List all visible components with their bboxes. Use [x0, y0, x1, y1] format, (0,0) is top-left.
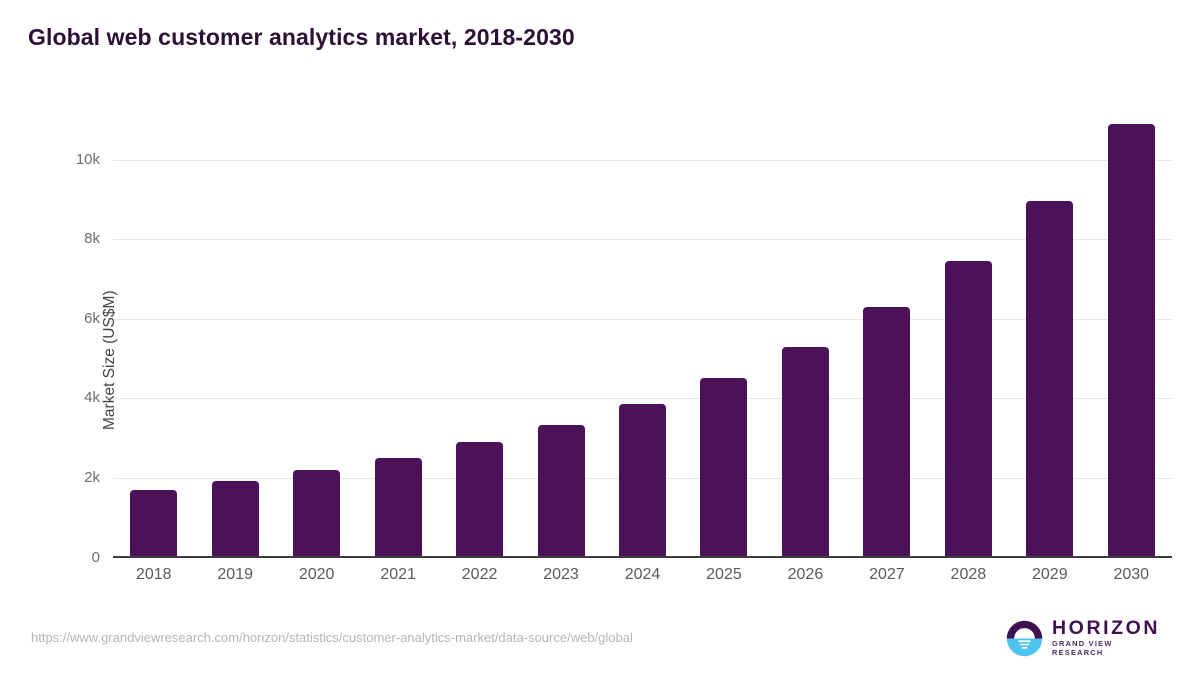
y-tick-label: 4k	[40, 389, 100, 406]
horizon-mark-icon	[1006, 620, 1043, 657]
gridline	[113, 239, 1172, 240]
bar[interactable]	[375, 458, 422, 555]
bar[interactable]	[700, 378, 747, 555]
logo-text: HORIZON GRAND VIEW RESEARCH	[1052, 618, 1166, 658]
bar[interactable]	[212, 481, 259, 556]
x-tick-label: 2019	[195, 566, 275, 584]
page-title: Global web customer analytics market, 20…	[28, 24, 575, 51]
y-tick-label: 2k	[40, 469, 100, 486]
bar[interactable]	[945, 261, 992, 555]
y-axis-title: Market Size (US$M)	[101, 290, 119, 430]
x-tick-label: 2030	[1091, 566, 1171, 584]
y-tick-label: 10k	[40, 151, 100, 168]
plot-frame: Market Size (US$M)	[113, 100, 1172, 558]
bar[interactable]	[1108, 124, 1155, 556]
horizon-logo[interactable]: HORIZON GRAND VIEW RESEARCH	[1006, 617, 1166, 659]
bar[interactable]	[1026, 201, 1073, 555]
bar[interactable]	[456, 442, 503, 555]
source-url[interactable]: https://www.grandviewresearch.com/horizo…	[31, 630, 633, 645]
gridline	[113, 160, 1172, 161]
chart-screenshot: Global web customer analytics market, 20…	[0, 0, 1200, 675]
y-tick-label: 6k	[40, 310, 100, 327]
x-tick-label: 2026	[765, 566, 845, 584]
bar[interactable]	[863, 307, 910, 556]
plot-area	[113, 100, 1172, 558]
x-tick-label: 2027	[847, 566, 927, 584]
x-tick-label: 2024	[603, 566, 683, 584]
x-tick-label: 2021	[358, 566, 438, 584]
x-tick-label: 2025	[684, 566, 764, 584]
x-tick-label: 2023	[521, 566, 601, 584]
bar[interactable]	[619, 404, 666, 555]
x-axis-line	[113, 556, 1172, 558]
x-tick-label: 2029	[1010, 566, 1090, 584]
x-tick-label: 2020	[277, 566, 357, 584]
gridline	[113, 319, 1172, 320]
bar[interactable]	[293, 470, 340, 556]
gridline	[113, 398, 1172, 399]
x-tick-label: 2018	[114, 566, 194, 584]
bar[interactable]	[782, 347, 829, 556]
bar[interactable]	[130, 490, 177, 556]
y-tick-label: 8k	[40, 230, 100, 247]
y-tick-label: 0	[40, 549, 100, 566]
bar[interactable]	[538, 425, 585, 555]
logo-tagline: GRAND VIEW RESEARCH	[1052, 640, 1166, 658]
x-tick-label: 2028	[928, 566, 1008, 584]
x-tick-label: 2022	[440, 566, 520, 584]
logo-name: HORIZON	[1052, 618, 1166, 638]
